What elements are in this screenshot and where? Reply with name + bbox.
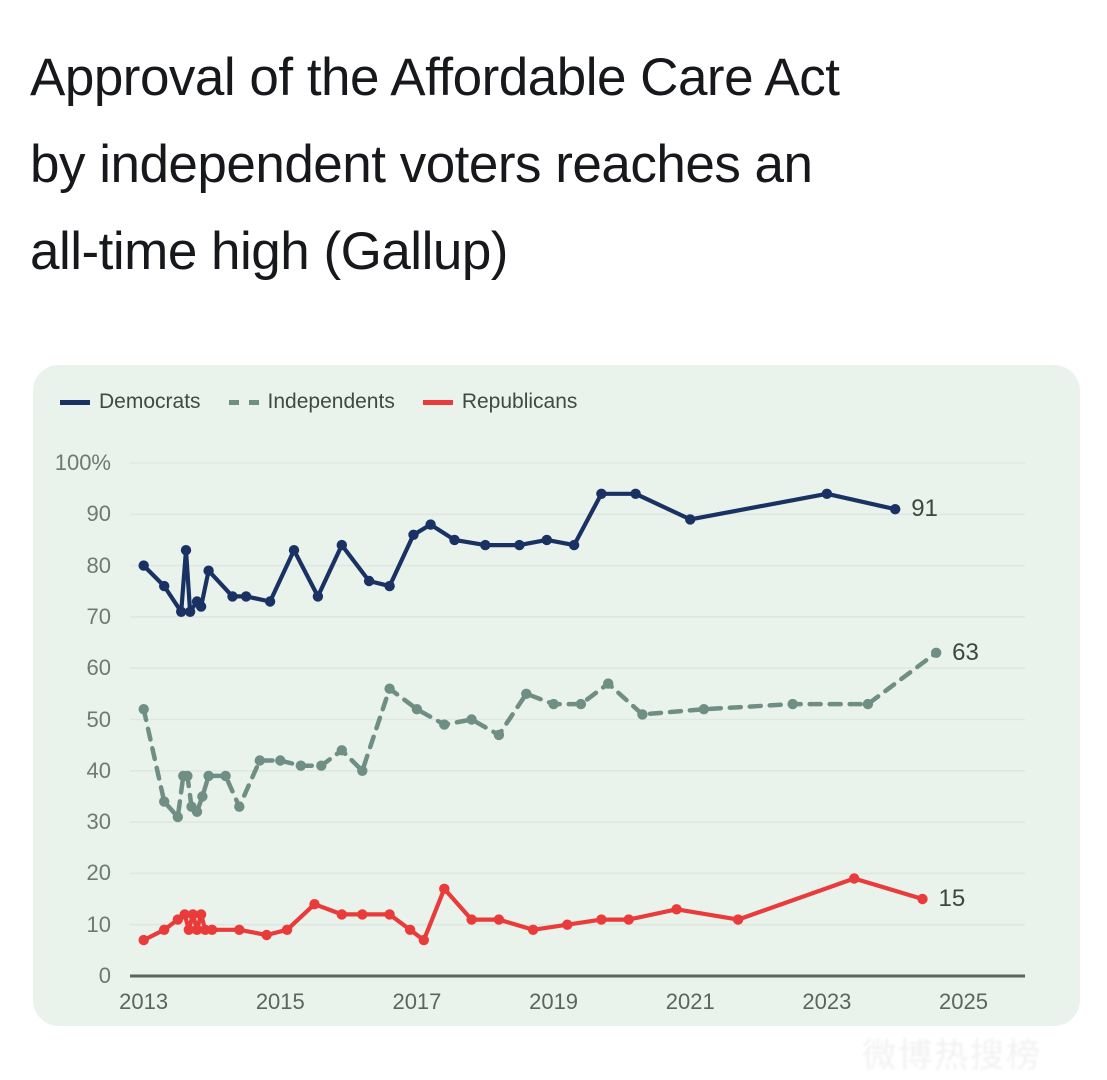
watermark: 微博热搜榜: [862, 1028, 1042, 1077]
series-end-labels: 916315: [33, 365, 1080, 1026]
page-title: Approval of the Affordable Care Act by i…: [30, 34, 1070, 295]
chart-card: Democrats Independents Republicans 100%9…: [33, 365, 1080, 1026]
democrats-end-value: 91: [911, 495, 938, 523]
independents-end-value: 63: [952, 639, 979, 667]
plot-area: 100%9080706050403020100 2013201520172019…: [33, 365, 1080, 1026]
republicans-end-value: 15: [939, 885, 966, 913]
